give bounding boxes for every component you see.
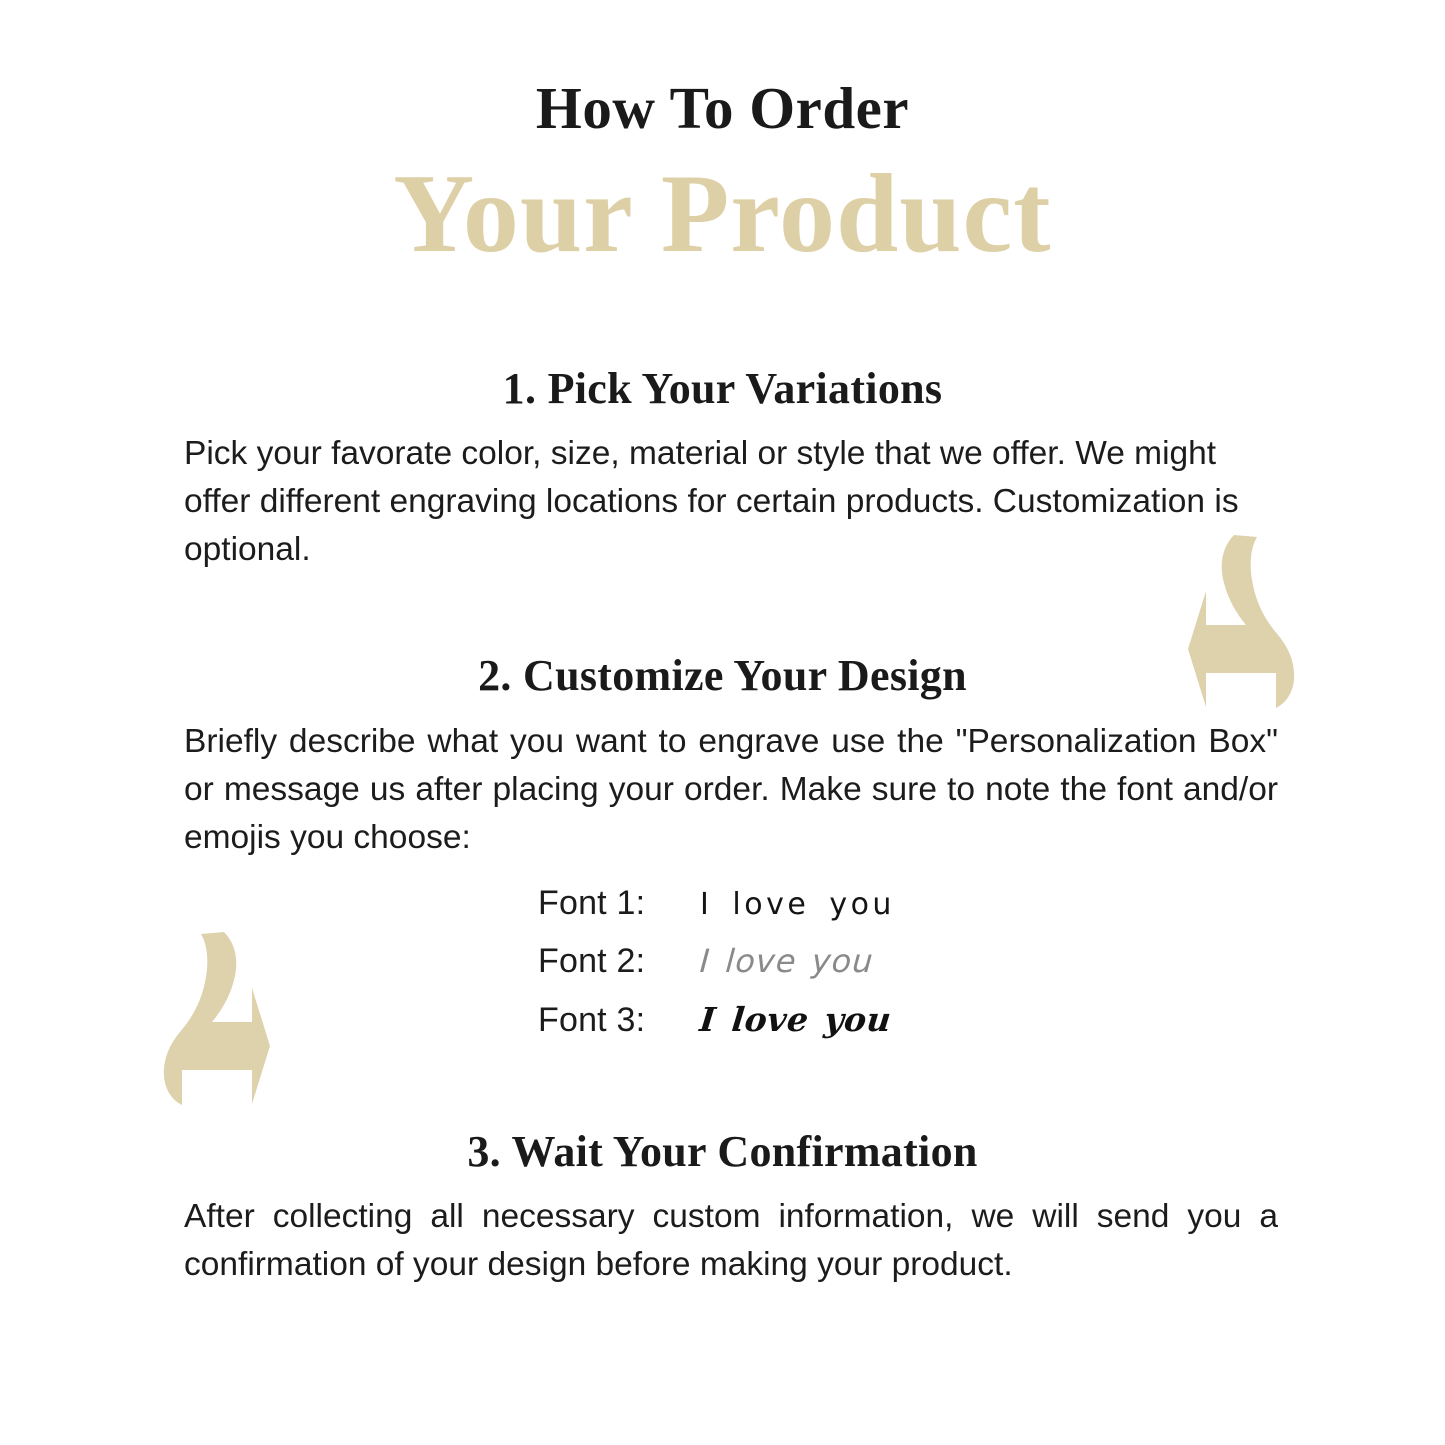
- font-1-sample: I love you: [700, 887, 895, 922]
- step-3-heading: 3. Wait Your Confirmation: [0, 1128, 1445, 1176]
- font-sample-list: Font 1: I love you Font 2: I love you Fo…: [538, 884, 958, 1058]
- step-1-body: Pick your favorate color, size, material…: [184, 430, 1278, 574]
- step-3-body: After collecting all necessary custom in…: [184, 1193, 1278, 1289]
- font-2-label: Font 2:: [538, 942, 700, 981]
- page-title-secondary: Your Product: [0, 156, 1445, 274]
- font-sample-row: Font 1: I love you: [538, 884, 958, 942]
- font-3-sample: I love you: [698, 1000, 893, 1039]
- font-2-sample: I love you: [699, 942, 875, 980]
- step-1-heading: 1. Pick Your Variations: [0, 365, 1445, 413]
- step-2-body: Briefly describe what you want to engrav…: [184, 718, 1278, 862]
- curved-arrow-down-left-icon: [1186, 533, 1298, 709]
- font-sample-row: Font 3: I love you: [538, 1000, 958, 1058]
- font-1-label: Font 1:: [538, 884, 700, 923]
- curved-arrow-down-right-icon: [160, 930, 272, 1106]
- font-3-label: Font 3:: [538, 1001, 700, 1040]
- page-title-primary: How To Order: [0, 78, 1445, 140]
- how-to-order-infographic: How To Order Your Product 1. Pick Your V…: [0, 0, 1445, 1445]
- font-sample-row: Font 2: I love you: [538, 942, 958, 1000]
